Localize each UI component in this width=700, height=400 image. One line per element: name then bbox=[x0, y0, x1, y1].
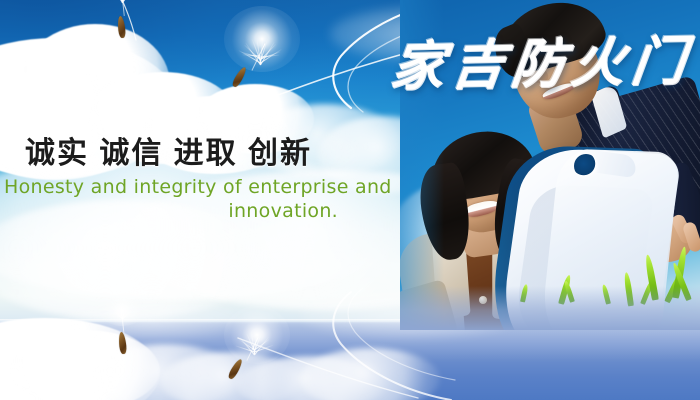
slogan-english-line2: innovation. bbox=[0, 200, 338, 222]
slogan-chinese: 诚实 诚信 进取 创新 bbox=[25, 128, 312, 172]
dandelion-glow bbox=[224, 306, 290, 364]
brand-calligraphy-title: 家吉防火门 bbox=[387, 19, 697, 101]
cloud-wisp bbox=[60, 300, 240, 340]
slogan-english-line1: Honesty and integrity of enterprise and bbox=[4, 176, 392, 198]
photo-bottom-blend bbox=[400, 286, 700, 330]
company-banner: 家吉防火门 诚实 诚信 进取 创新 Honesty and integrity … bbox=[0, 0, 700, 400]
rolled-paper-curl bbox=[574, 154, 598, 178]
